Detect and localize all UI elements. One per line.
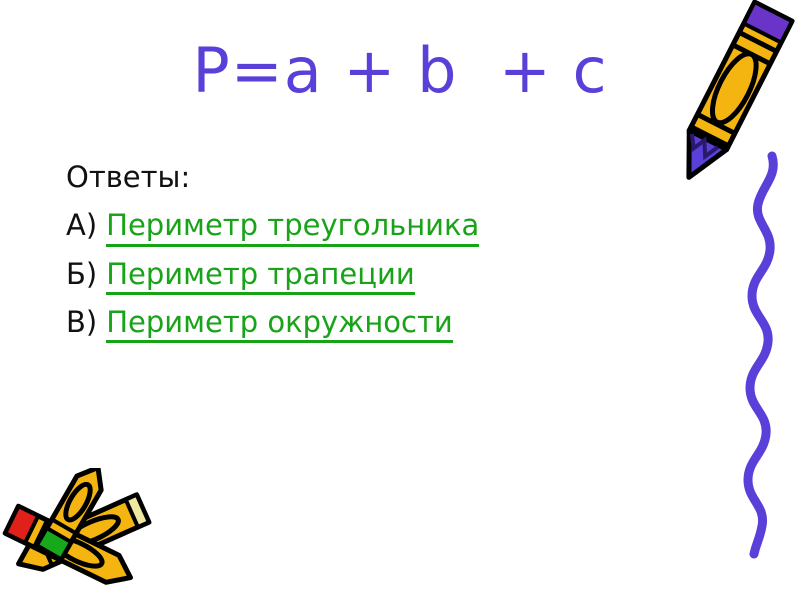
answer-option-b[interactable]: Б) Периметр трапеции [66, 257, 626, 295]
crossed-crayons-icon [0, 468, 168, 600]
perimeter-formula: P=a + b + c [0, 40, 800, 102]
answer-text-a[interactable]: Периметр треугольника [106, 208, 479, 246]
answer-option-a[interactable]: А) Периметр треугольника [66, 208, 626, 246]
answers-heading: Ответы: [66, 162, 626, 192]
purple-squiggle-icon [700, 150, 800, 560]
answers-block: Ответы: А) Периметр треугольника Б) Пери… [66, 162, 626, 353]
answer-option-v[interactable]: В) Периметр окружности [66, 305, 626, 343]
answer-text-b[interactable]: Периметр трапеции [106, 257, 414, 295]
answer-letter-v: В) [66, 305, 97, 339]
slide-canvas: P=a + b + c Ответы: А) Периметр треуголь… [0, 0, 800, 600]
answer-letter-a: А) [66, 208, 97, 242]
answer-letter-b: Б) [66, 257, 97, 291]
answer-text-v[interactable]: Периметр окружности [106, 305, 453, 343]
